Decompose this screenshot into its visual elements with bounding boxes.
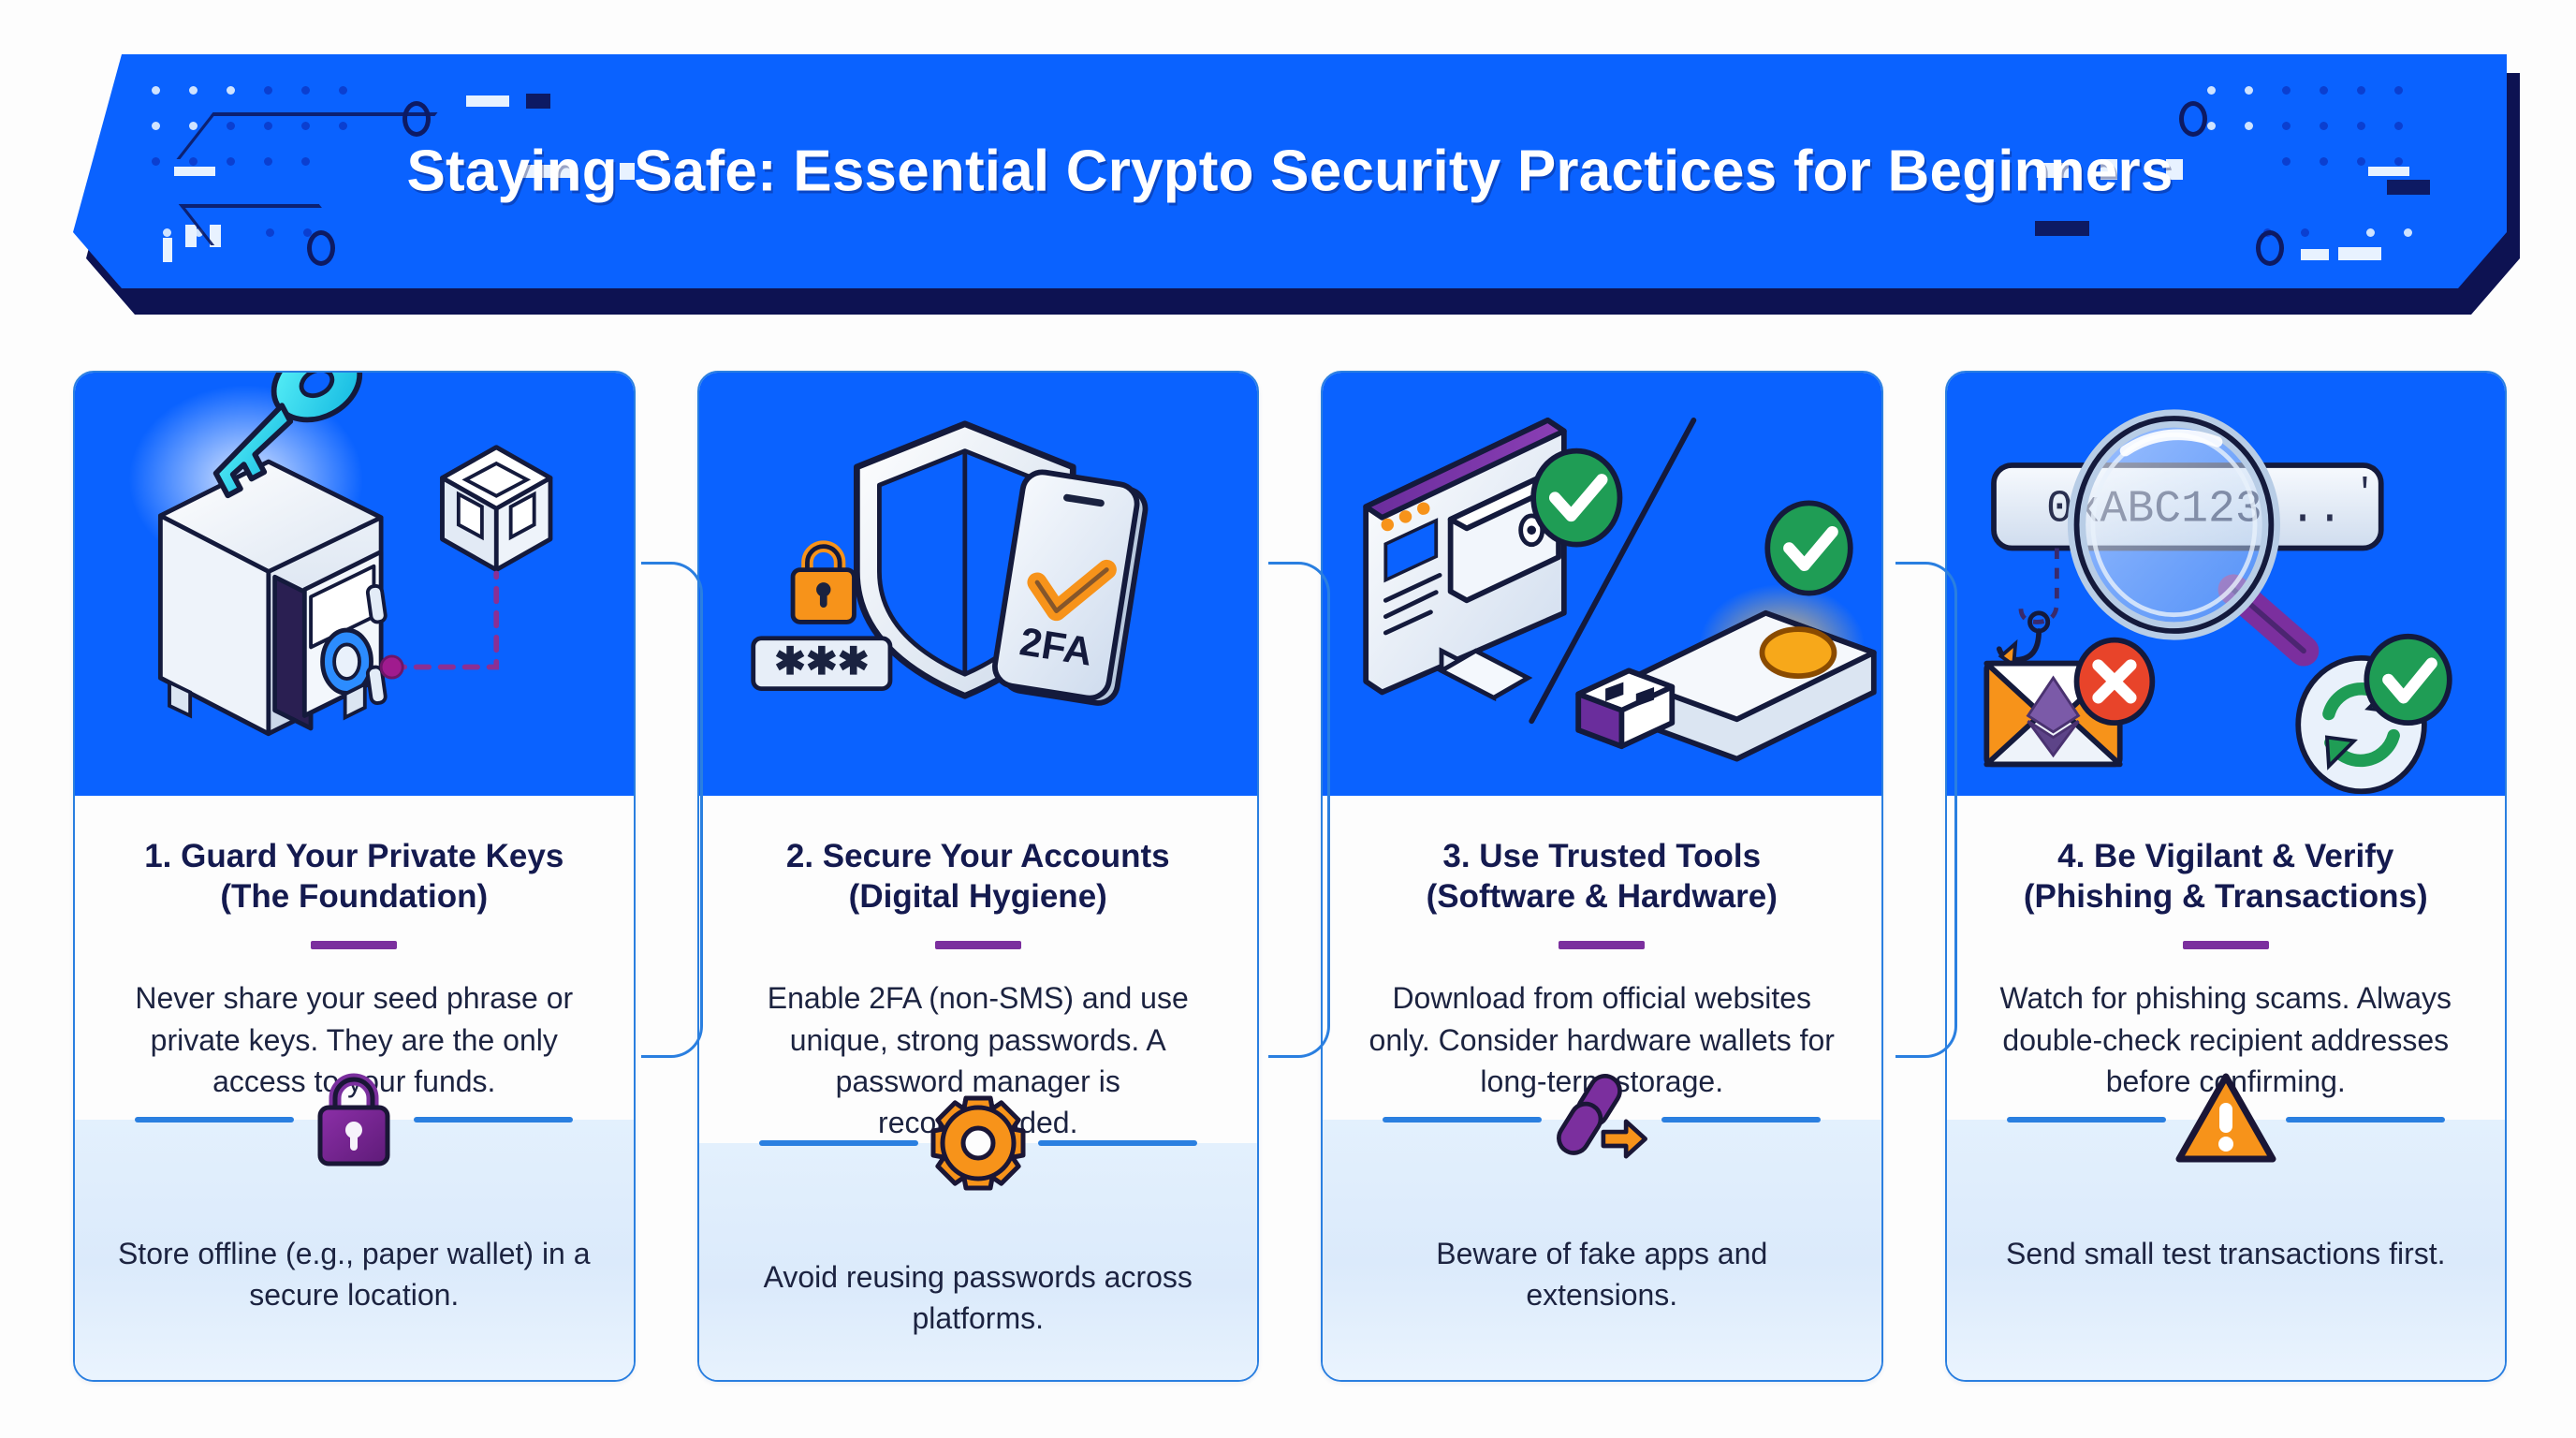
circuit-dash-5 [185, 225, 197, 247]
card-1-body: 1. Guard Your Private Keys (The Foundati… [75, 796, 634, 1380]
address-tail: ' [2353, 473, 2375, 514]
card-4-accent-rule [2183, 941, 2269, 949]
card-2-artwork: 2FA ✱✱✱ [699, 373, 1258, 796]
dashed-connector [381, 573, 496, 678]
card-3-artwork [1323, 373, 1881, 796]
green-check-badge-usb [1767, 503, 1851, 593]
card-4-title-line1: 4. Be Vigilant & Verify [2057, 838, 2393, 874]
cards-row: 1. Guard Your Private Keys (The Foundati… [73, 371, 2507, 1382]
card-3-footer: Beware of fake apps and extensions. [1323, 1120, 1881, 1380]
card-1-title-line2: (The Foundation) [220, 878, 488, 915]
infographic-page: Staying Safe: Essential Crypto Security … [0, 0, 2576, 1438]
phishing-verify-illustration: 0xABC123... ' [1947, 373, 2506, 796]
card-3-body: 3. Use Trusted Tools (Software & Hardwar… [1323, 796, 1881, 1380]
card-2-title-line1: 2. Secure Your Accounts [786, 838, 1170, 874]
card-4-footer-text: Send small test transactions first. [1947, 1234, 2506, 1275]
card-1-accent-rule [311, 941, 397, 949]
divider-line-left [759, 1140, 918, 1146]
card-2-accent-rule [935, 941, 1021, 949]
card-guard-private-keys[interactable]: 1. Guard Your Private Keys (The Foundati… [73, 371, 636, 1382]
red-x-badge [2076, 640, 2152, 724]
header-banner: Staying Safe: Essential Crypto Security … [73, 54, 2507, 298]
circuit-dash-13 [2338, 247, 2381, 260]
divider-line-right [414, 1117, 573, 1123]
card-2-footer-text: Avoid reusing passwords across platforms… [699, 1257, 1258, 1339]
card-trusted-tools[interactable]: 3. Use Trusted Tools (Software & Hardwar… [1321, 371, 1883, 1382]
card-1-footer-text: Store offline (e.g., paper wallet) in a … [75, 1234, 634, 1315]
divider-line-right [1038, 1140, 1197, 1146]
card-2-title: 2. Secure Your Accounts (Digital Hygiene… [699, 837, 1258, 917]
divider-line-right [1661, 1117, 1821, 1123]
password-mask: ✱✱✱ [774, 639, 870, 682]
circuit-dash-12 [2301, 249, 2329, 260]
circuit-node-top-left [402, 101, 431, 137]
card-1-artwork [75, 373, 634, 796]
magnifier-icon [2076, 418, 2303, 651]
card-3-title-line2: (Software & Hardware) [1427, 878, 1778, 915]
circuit-dash-10 [2035, 221, 2089, 236]
card-be-vigilant[interactable]: 0xABC123... ' [1945, 371, 2508, 1382]
green-check-badge [1533, 451, 1619, 545]
banner-surface: Staying Safe: Essential Crypto Security … [73, 54, 2507, 288]
circuit-node-bottom-left [307, 230, 335, 266]
circuit-dash-14 [163, 238, 172, 262]
card-1-footer: Store offline (e.g., paper wallet) in a … [75, 1120, 634, 1380]
green-check-badge-verify [2366, 637, 2450, 723]
page-title: Staying Safe: Essential Crypto Security … [73, 139, 2507, 205]
card-secure-accounts[interactable]: 2FA ✱✱✱ [697, 371, 1260, 1382]
circuit-dash-2 [526, 94, 550, 109]
warning-triangle-icon [2173, 1067, 2278, 1172]
padlock-icon [301, 1067, 406, 1172]
circuit-node-top-right [2179, 101, 2207, 137]
card-4-title-line2: (Phishing & Transactions) [2024, 878, 2428, 915]
safe-and-key-illustration [75, 373, 634, 796]
circuit-dash-1 [466, 95, 509, 107]
card-1-title: 1. Guard Your Private Keys (The Foundati… [75, 837, 634, 917]
card-3-accent-rule [1559, 941, 1645, 949]
chain-link-arrow-icon [1549, 1067, 1654, 1172]
card-4-footer: Send small test transactions first. [1947, 1120, 2506, 1380]
card-4-title: 4. Be Vigilant & Verify (Phishing & Tran… [1947, 837, 2506, 917]
card-3-title: 3. Use Trusted Tools (Software & Hardwar… [1323, 837, 1881, 917]
card-2-title-line2: (Digital Hygiene) [849, 878, 1107, 915]
shield-2fa-illustration: 2FA ✱✱✱ [699, 373, 1258, 796]
desktop-and-usb-illustration [1323, 373, 1881, 796]
card-2-footer: Avoid reusing passwords across platforms… [699, 1143, 1258, 1382]
divider-line-left [1383, 1117, 1542, 1123]
card-4-body: 4. Be Vigilant & Verify (Phishing & Tran… [1947, 796, 2506, 1380]
divider-line-left [2007, 1117, 2166, 1123]
card-1-title-line1: 1. Guard Your Private Keys [144, 838, 563, 874]
gear-icon [926, 1091, 1031, 1196]
card-4-artwork: 0xABC123... ' [1947, 373, 2506, 796]
divider-line-left [135, 1117, 294, 1123]
card-3-footer-text: Beware of fake apps and extensions. [1323, 1234, 1881, 1315]
card-3-title-line1: 3. Use Trusted Tools [1442, 838, 1761, 874]
divider-line-right [2286, 1117, 2445, 1123]
circuit-node-bottom-right [2256, 230, 2284, 266]
card-2-body: 2. Secure Your Accounts (Digital Hygiene… [699, 796, 1258, 1382]
